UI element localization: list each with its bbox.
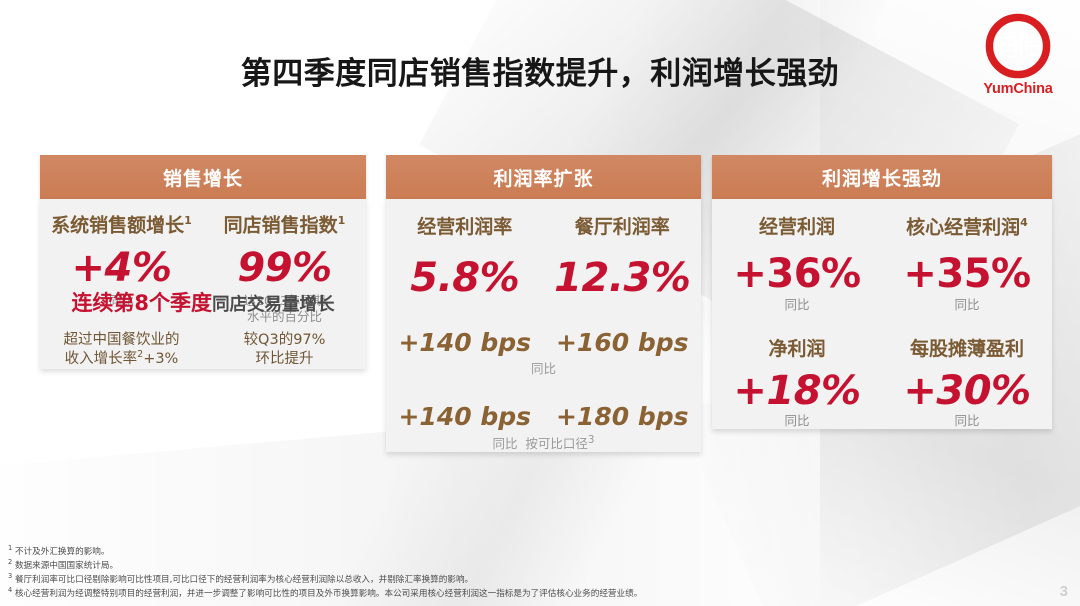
footnote-item: 1 不计及外汇换算的影响。 bbox=[8, 544, 1058, 558]
metric-note-line-2: 环比提升 bbox=[207, 350, 362, 369]
footnote-text: 核心经营利润为经调整特别项目的经营利润，并进一步调整了影响可比性的项目及外币换算… bbox=[15, 589, 642, 599]
bps-row-2-sub: 同比 按可比口径3 bbox=[386, 433, 701, 452]
bps-value: +180 bps bbox=[548, 403, 698, 431]
card-sales-growth-header: 销售增长 bbox=[40, 155, 366, 199]
card-margin-expansion-body: 经营利润率 5.8% 餐厅利润率 12.3% +140 bps +160 bps bbox=[386, 199, 701, 452]
footnote-ref: 1 bbox=[184, 214, 192, 227]
card-sales-growth: 销售增长 系统销售额增长1 +4% 同比 超过中国餐饮业的 收入增长率2+3% bbox=[40, 155, 366, 369]
metric-value: 5.8% bbox=[390, 257, 540, 299]
metric-label: 餐厅利润率 bbox=[548, 217, 698, 239]
metric-operating-profit: 经营利润 +36% 同比 bbox=[712, 217, 882, 313]
bps-sub-left: 同比 bbox=[492, 436, 517, 451]
metric-label: 经营利润率 bbox=[390, 217, 540, 239]
metric-note-line-2: 收入增长率2+3% bbox=[44, 349, 199, 369]
metric-net-profit: 净利润 +18% 同比 bbox=[712, 339, 882, 429]
footnote-text: 数据来源中国国家统计局。 bbox=[15, 561, 118, 571]
metric-label: 同店销售指数1 bbox=[207, 215, 362, 237]
footnotes: 1 不计及外汇换算的影响。 2 数据来源中国国家统计局。 3 餐厅利润率可比口径… bbox=[8, 544, 1058, 600]
card-profit-growth-header: 利润增长强劲 bbox=[712, 155, 1052, 199]
metric-sub: 同比 bbox=[886, 297, 1048, 313]
metric-label: 每股摊薄盈利 bbox=[886, 339, 1048, 361]
footnote-item: 2 数据来源中国国家统计局。 bbox=[8, 558, 1058, 572]
footnote-item: 4 核心经营利润为经调整特别项目的经营利润，并进一步调整了影响可比性的项目及外币… bbox=[8, 586, 1058, 600]
card-margin-expansion-header: 利润率扩张 bbox=[386, 155, 701, 199]
banner-highlight: 连续第8个季度 bbox=[71, 291, 212, 315]
metric-value: 99% bbox=[207, 247, 362, 289]
bps-value: +140 bps bbox=[390, 329, 540, 357]
bps-comparable-restaurant: +180 bps bbox=[544, 403, 702, 431]
metric-value: +36% bbox=[716, 253, 878, 295]
metric-sub: 同比 bbox=[716, 297, 878, 313]
metric-value: +35% bbox=[886, 253, 1048, 295]
footnote-ref: 3 bbox=[588, 434, 595, 446]
card-profit-growth-body: 经营利润 +36% 同比 核心经营利润4 +35% 同比 净利润 bbox=[712, 199, 1052, 429]
footnote-marker: 1 bbox=[8, 544, 12, 552]
metrics-card-row: 销售增长 系统销售额增长1 +4% 同比 超过中国餐饮业的 收入增长率2+3% bbox=[0, 155, 1080, 515]
metric-operating-margin: 经营利润率 5.8% bbox=[386, 217, 544, 299]
footnote-ref: 4 bbox=[1020, 216, 1028, 229]
footnote-item: 3 餐厅利润率可比口径剔除影响可比性项目,可比口径下的经营利润率为核心经营利润除… bbox=[8, 572, 1058, 586]
metric-label: 经营利润 bbox=[716, 217, 878, 239]
footnote-text: 不计及外汇换算的影响。 bbox=[15, 547, 110, 557]
footnote-ref: 1 bbox=[338, 214, 346, 227]
metric-label: 核心经营利润4 bbox=[886, 217, 1048, 239]
metric-diluted-eps: 每股摊薄盈利 +30% 同比 bbox=[882, 339, 1052, 429]
bps-row-1-sub: 同比 bbox=[386, 358, 701, 377]
metric-value: +30% bbox=[886, 370, 1048, 412]
metric-core-operating-profit: 核心经营利润4 +35% 同比 bbox=[882, 217, 1052, 313]
bps-value: +140 bps bbox=[390, 403, 540, 431]
metric-label: 系统销售额增长1 bbox=[44, 215, 199, 237]
card-margin-expansion: 利润率扩张 经营利润率 5.8% 餐厅利润率 12.3% +140 bps bbox=[386, 155, 701, 452]
metric-sub: 同比 bbox=[716, 413, 878, 429]
footnote-text: 餐厅利润率可比口径剔除影响可比性项目,可比口径下的经营利润率为核心经营利润除以总… bbox=[15, 575, 473, 585]
bps-value: +160 bps bbox=[548, 329, 698, 357]
slide-canvas: YumChina 第四季度同店销售指数提升，利润增长强劲 销售增长 系统销售额增… bbox=[0, 0, 1080, 606]
bps-sub-right: 按可比口径 bbox=[525, 436, 588, 451]
metric-label: 净利润 bbox=[716, 339, 878, 361]
metric-sub: 同比 bbox=[886, 413, 1048, 429]
metric-value: +18% bbox=[716, 370, 878, 412]
metric-value: 12.3% bbox=[548, 257, 698, 299]
banner-rest: 同店交易量增长 bbox=[212, 295, 335, 315]
card-profit-growth: 利润增长强劲 经营利润 +36% 同比 核心经营利润4 +35% 同比 bbox=[712, 155, 1052, 429]
card-sales-growth-body: 系统销售额增长1 +4% 同比 超过中国餐饮业的 收入增长率2+3% 同店销售指… bbox=[40, 199, 366, 369]
footnote-marker: 2 bbox=[8, 558, 12, 566]
metric-note-line-1: 较Q3的97% bbox=[207, 331, 362, 350]
footnote-marker: 3 bbox=[8, 572, 12, 580]
metric-value: +4% bbox=[44, 247, 199, 289]
page-title: 第四季度同店销售指数提升，利润增长强劲 bbox=[0, 48, 1080, 93]
page-number: 3 bbox=[1060, 583, 1068, 600]
footnote-marker: 4 bbox=[8, 586, 12, 594]
sales-growth-banner: 连续第8个季度同店交易量增长 bbox=[40, 287, 366, 317]
bps-yoy-restaurant: +160 bps bbox=[544, 329, 702, 357]
metric-restaurant-margin: 餐厅利润率 12.3% bbox=[544, 217, 702, 299]
bps-comparable-operating: +140 bps bbox=[386, 403, 544, 431]
bps-yoy-operating: +140 bps bbox=[386, 329, 544, 357]
metric-note-line-1: 超过中国餐饮业的 bbox=[44, 331, 199, 350]
